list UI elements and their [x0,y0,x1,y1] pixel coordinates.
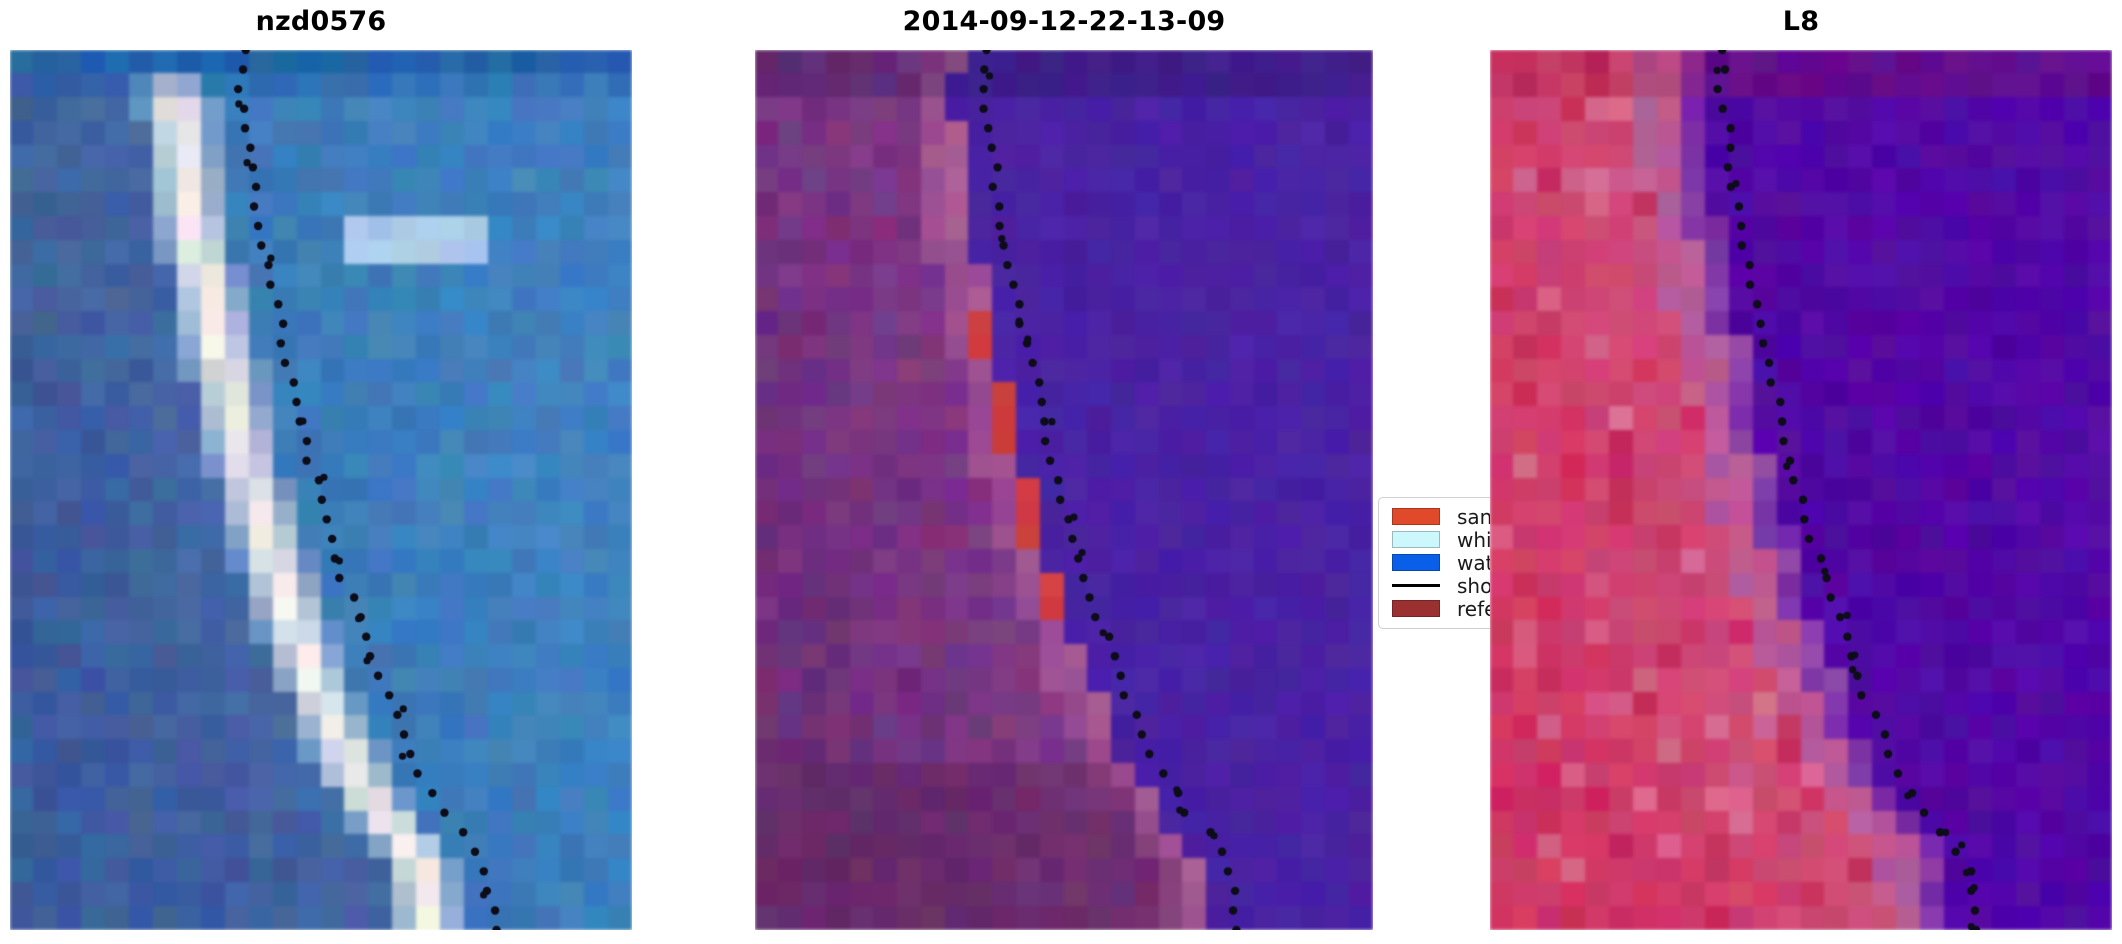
panel-l8-image [1490,50,2112,930]
panel-classified-title: 2014-09-12-22-13-09 [755,0,1373,44]
panel-rgb-image [10,50,632,930]
panel-classified-image [755,50,1373,930]
legend-swatch-reference-shoreline [1392,600,1440,617]
panel-l8 [1490,50,2112,930]
panel-rgb [10,50,632,930]
legend-swatch-shoreline [1392,584,1440,587]
panel-l8-title: L8 [1490,0,2112,44]
legend-swatch-sand [1392,508,1440,525]
panel-rgb-title: nzd0576 [10,0,632,44]
panel-classified [755,50,1373,930]
legend-swatch-whitewater [1392,531,1440,548]
legend-swatch-water [1392,554,1440,571]
figure-canvas: nzd0576 2014-09-12-22-13-09 sand whitewa… [0,0,2122,944]
